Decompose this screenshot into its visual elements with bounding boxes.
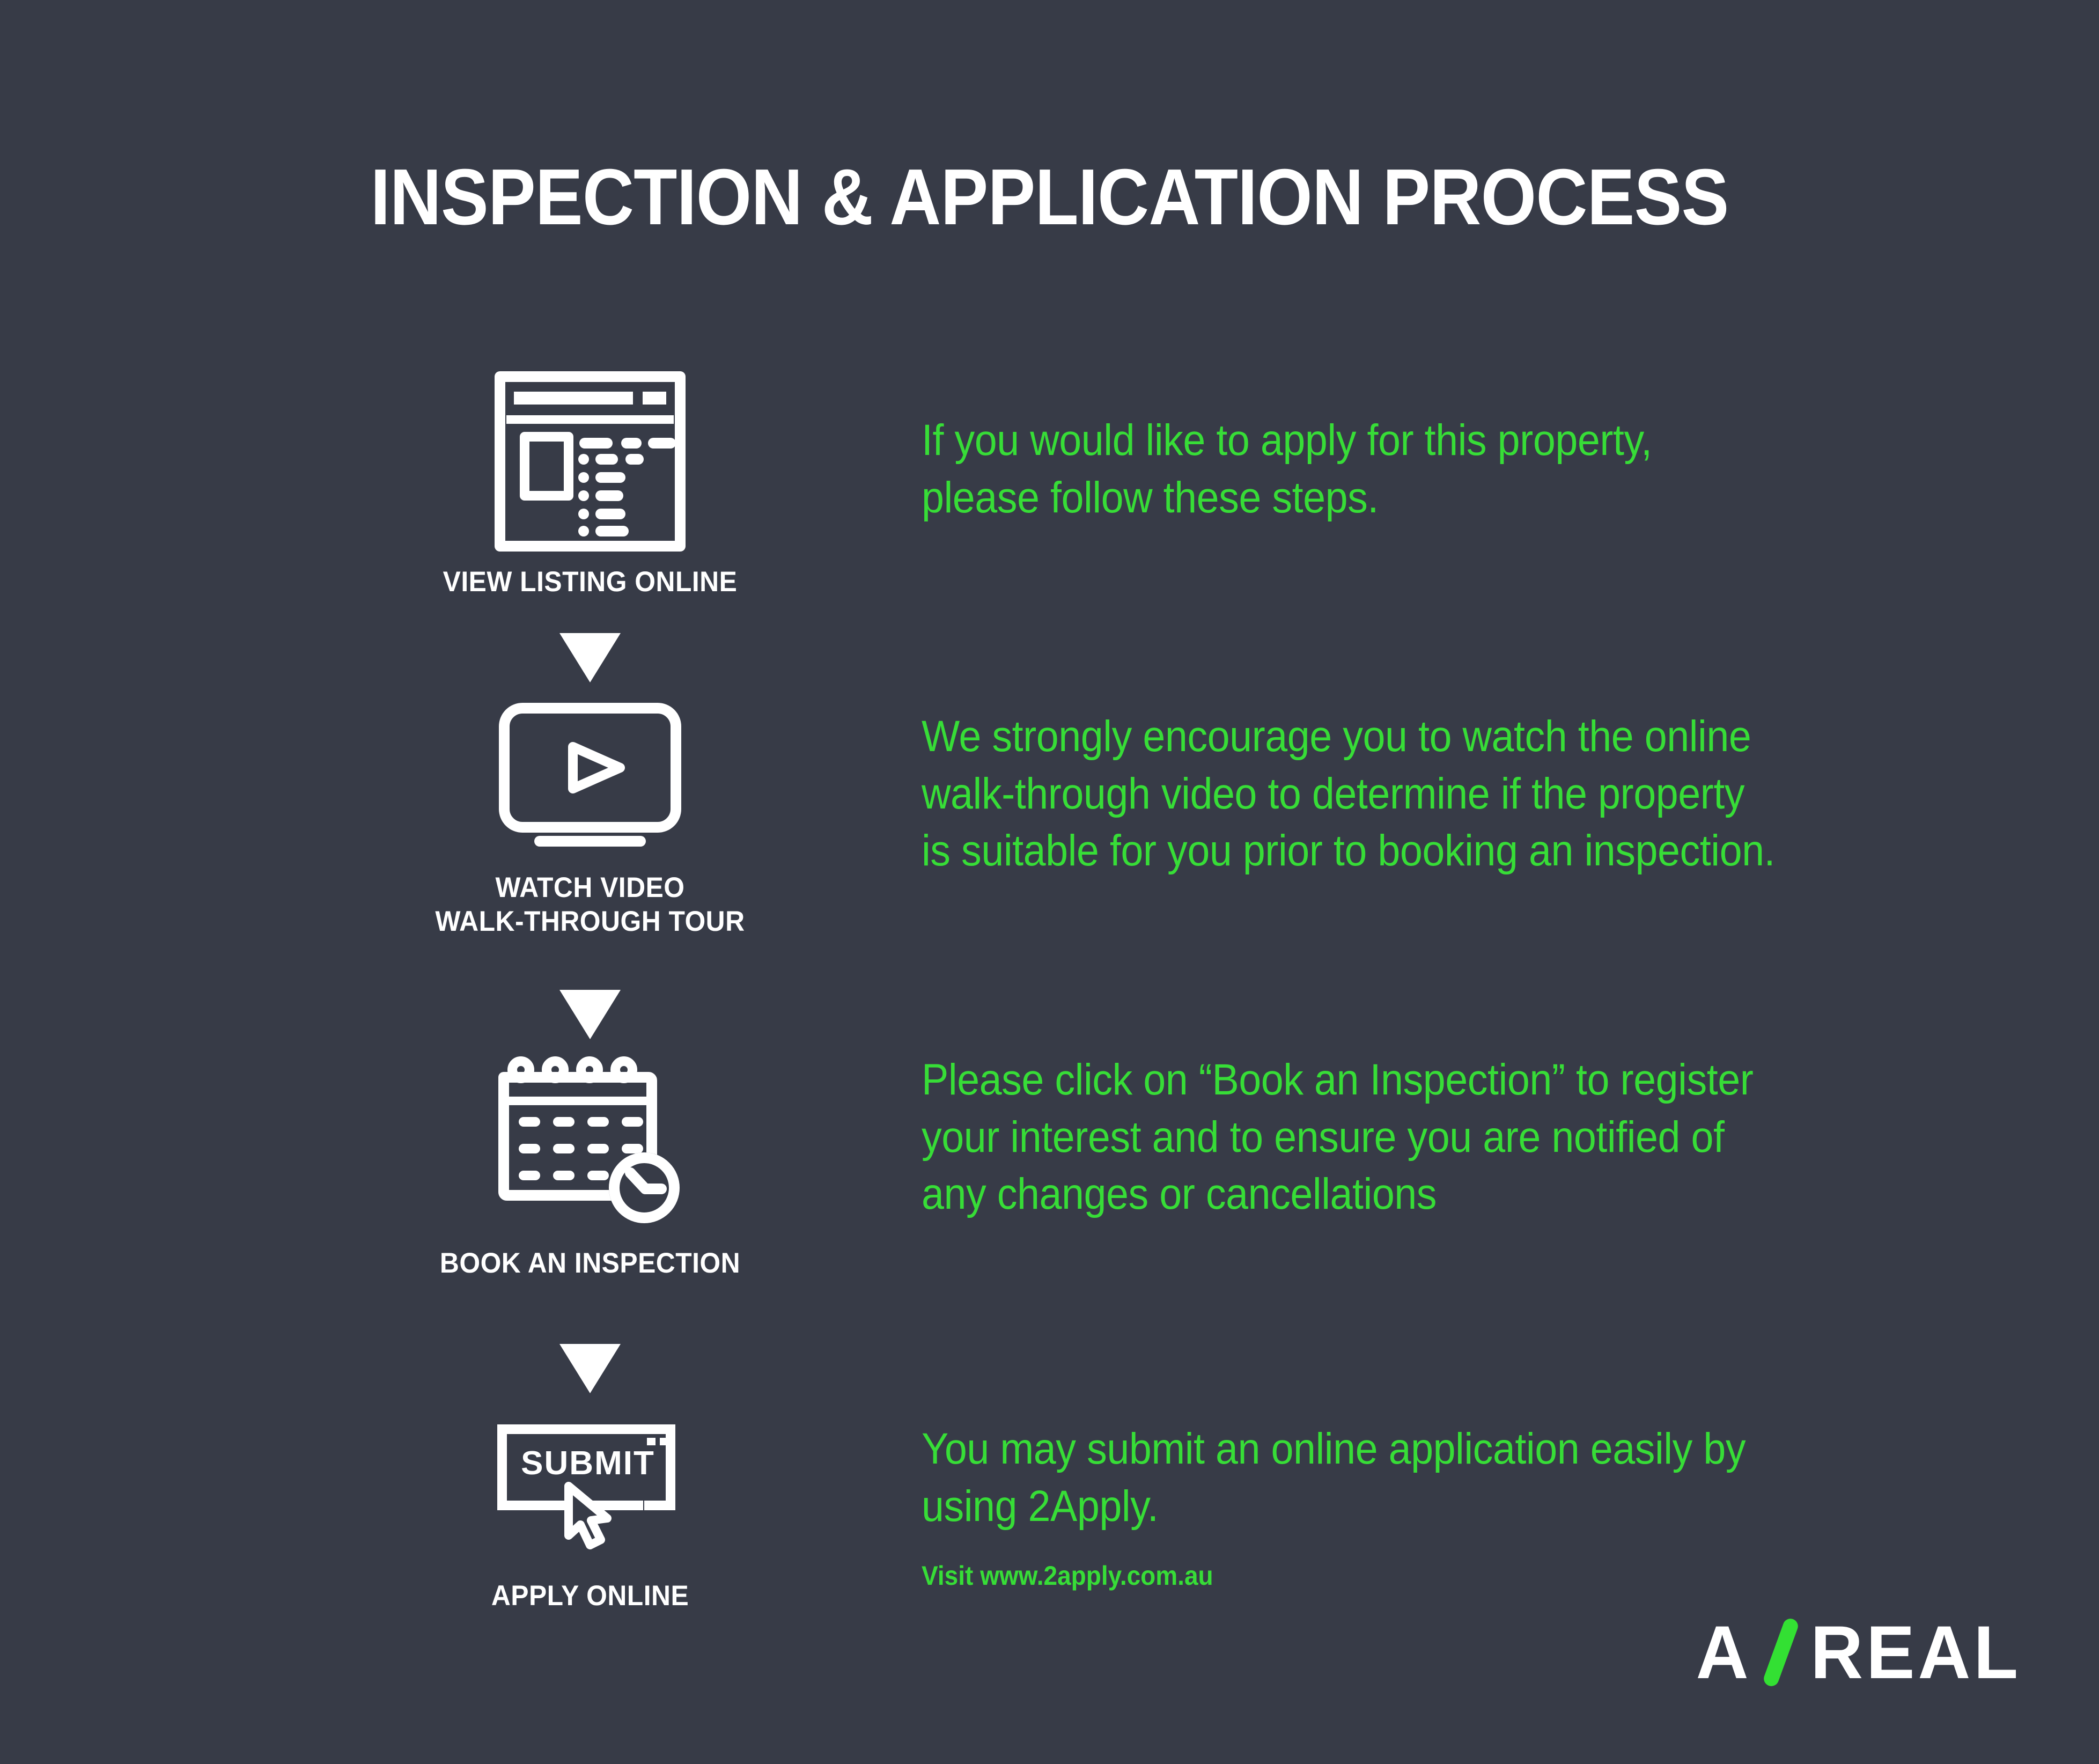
- logo-letter-a: A: [1696, 1615, 1752, 1690]
- step-connector-arrow-3: [375, 1344, 805, 1396]
- submit-icon-label: SUBMIT: [521, 1445, 655, 1482]
- arrow-down-triangle-icon: [559, 1344, 621, 1393]
- step-label: WATCH VIDEO WALK-THROUGH TOUR: [388, 871, 792, 938]
- step-label: BOOK AN INSPECTION: [388, 1247, 792, 1281]
- logo-word-real: REAL: [1810, 1615, 2021, 1690]
- step-apply-online: SUBMIT APPLY ONLINE: [375, 1411, 805, 1613]
- step-connector-arrow-1: [375, 633, 805, 685]
- video-play-monitor-icon: [494, 697, 687, 858]
- page-title: INSPECTION & APPLICATION PROCESS: [105, 156, 1994, 239]
- calendar-clock-icon: [491, 1052, 689, 1234]
- copy-block-3: Please click on “Book an Inspection” to …: [922, 1052, 1753, 1223]
- step-connector-arrow-2: [375, 990, 805, 1042]
- arrow-down-triangle-icon: [559, 633, 621, 682]
- visit-url-text[interactable]: Visit www.2apply.com.au: [922, 1559, 1213, 1593]
- infographic-poster: INSPECTION & APPLICATION PROCESS: [0, 0, 2099, 1764]
- step-book-inspection: BOOK AN INSPECTION: [375, 1052, 805, 1281]
- step-view-listing-online: VIEW LISTING ONLINE: [375, 370, 805, 599]
- arrow-down-triangle-icon: [559, 990, 621, 1039]
- listing-window-icon: [494, 370, 687, 553]
- step-label: VIEW LISTING ONLINE: [388, 565, 792, 599]
- copy-block-4: You may submit an online application eas…: [922, 1421, 1746, 1535]
- logo-slash-icon: [1758, 1617, 1804, 1688]
- step-watch-video: WATCH VIDEO WALK-THROUGH TOUR: [375, 697, 805, 938]
- step-label: APPLY ONLINE: [388, 1579, 792, 1613]
- brand-logo: A REAL: [1695, 1615, 2024, 1690]
- copy-block-1: If you would like to apply for this prop…: [922, 412, 1652, 526]
- submit-button-cursor-icon: SUBMIT: [488, 1411, 692, 1567]
- copy-block-2: We strongly encourage you to watch the o…: [922, 708, 1775, 880]
